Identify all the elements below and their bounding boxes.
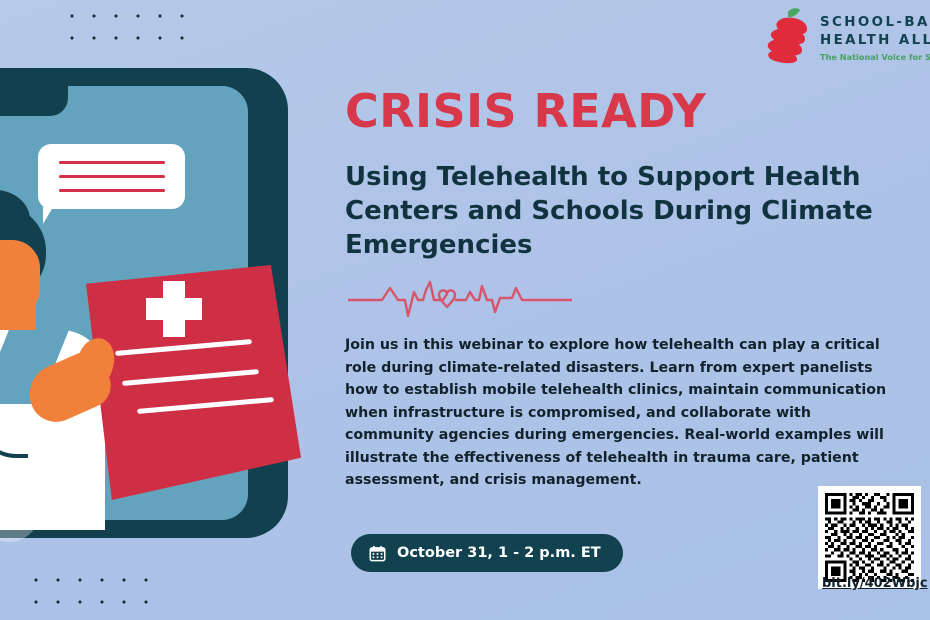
qr-link-label[interactable]: bit.ly/402Wbjc (822, 576, 928, 591)
smartphone-notch (0, 86, 68, 116)
event-date-badge[interactable]: October 31, 1 - 2 p.m. ET (351, 534, 623, 572)
chat-bubble-line (59, 161, 165, 164)
chat-bubble-line (59, 175, 165, 178)
body-paragraph: Join us in this webinar to explore how t… (345, 334, 893, 492)
ekg-heartbeat-line (348, 278, 572, 318)
chat-bubble (38, 144, 185, 209)
hero-illustration (0, 0, 330, 620)
page-title: CRISIS READY (345, 84, 706, 138)
page-subtitle: Using Telehealth to Support Health Cente… (345, 160, 885, 262)
event-date-label: October 31, 1 - 2 p.m. ET (397, 545, 601, 561)
stethoscope-icon (0, 328, 28, 458)
qr-code-block[interactable] (818, 486, 921, 589)
chat-bubble-line (59, 189, 165, 192)
medical-cross-icon (146, 298, 202, 320)
qr-code[interactable] (818, 486, 921, 589)
calendar-icon (369, 545, 386, 562)
poster-canvas: SCHOOL-BASED HEALTH ALLIANCE The Nationa… (0, 0, 930, 620)
